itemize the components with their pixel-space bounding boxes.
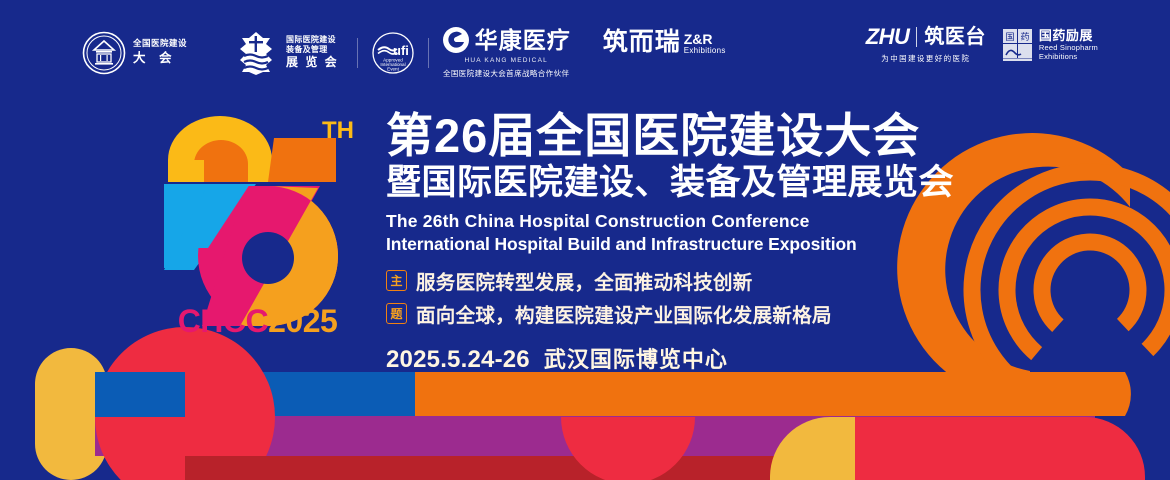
- theme-line1: 服务医院转型发展，全面推动科技创新: [416, 266, 753, 295]
- date-venue-line: 2025.5.24-26 武汉国际博览中心: [386, 342, 954, 374]
- huakang-partner-note: 全国医院建设大会首席战略合作伙伴: [443, 68, 569, 79]
- theme-row-2: 题 面向全球，构建医院建设产业国际化发展新格局: [386, 299, 954, 328]
- theme-line2: 面向全球，构建医院建设产业国际化发展新格局: [416, 299, 832, 328]
- event-venue: 武汉国际博览中心: [544, 342, 728, 374]
- reed-sinopharm-seal-icon: 国 药: [1003, 29, 1033, 61]
- svg-text:Event: Event: [387, 66, 399, 71]
- huakang-swirl-icon: [442, 26, 470, 54]
- chcc-seal-logo: 全国医院建设 大 会: [82, 31, 187, 75]
- ufi-logo: ufi Approved International Event: [371, 31, 415, 75]
- subtitle-en-line2: International Hospital Build and Infrast…: [386, 233, 954, 255]
- theme-badge-char1: 主: [386, 270, 407, 291]
- svg-text:药: 药: [1020, 32, 1029, 43]
- zhuyitai-cn-name: 筑医台: [924, 27, 986, 47]
- reed-en-line2: Exhibitions: [1039, 53, 1098, 62]
- chcc-wordmark: CHCC2025: [155, 303, 360, 340]
- logo-divider-2: [357, 38, 358, 68]
- partner-logos-right: ZHU 筑医台 为中国建设更好的医院 国 药: [866, 26, 1098, 64]
- zhuyitai-divider: [916, 27, 917, 47]
- event-date: 2025.5.24-26: [386, 346, 530, 374]
- zhuerrui-en-abbrev: Z&R: [684, 32, 726, 47]
- theme-block: 主 服务医院转型发展，全面推动科技创新 题 面向全球，构建医院建设产业国际化发展…: [386, 266, 954, 328]
- theme-badge-char2: 题: [386, 303, 407, 324]
- chcc-seal-line2: 大 会: [133, 51, 187, 65]
- zhuyitai-en-name: ZHU: [866, 26, 910, 48]
- chcc-2025-event-banner: 全国医院建设 大 会 国际医院建设 装备及管理 展 览: [0, 0, 1170, 480]
- zhuyitai-tagline: 为中国建设更好的医院: [881, 53, 970, 64]
- huakang-cn-name: 华康医疗: [475, 29, 571, 52]
- logo-divider-3: [428, 38, 429, 68]
- chcc-wordmark-year: 2025: [268, 303, 337, 339]
- exhibition-snowflake-logo: 国际医院建设 装备及管理 展 览 会: [232, 30, 339, 76]
- chcc-wordmark-primary: CHCC: [178, 303, 268, 339]
- subtitle-en-line1: The 26th China Hospital Construction Con…: [386, 210, 954, 232]
- chcc-arch-seal-icon: [82, 31, 126, 75]
- main-text-block: 第26届全国医院建设大会 暨国际医院建设、装备及管理展览会 The 26th C…: [386, 112, 954, 374]
- huakang-medical-logo: 华康医疗 HUA KANG MEDICAL 全国医院建设大会首席战略合作伙伴: [442, 26, 571, 79]
- zhuerrui-en-name: Exhibitions: [684, 47, 726, 55]
- partner-logos-left: 全国医院建设 大 会 国际医院建设 装备及管理 展 览: [82, 26, 726, 79]
- huakang-en-name: HUA KANG MEDICAL: [464, 57, 548, 64]
- title-cn-line1: 第26届全国医院建设大会: [386, 112, 954, 160]
- ordinal-suffix-th: TH: [322, 117, 354, 144]
- subtitle-en: The 26th China Hospital Construction Con…: [386, 210, 954, 255]
- snowflake-building-icon: [232, 30, 280, 76]
- reed-sinopharm-logo: 国 药 国药励展 Reed Sinopharm Exhibitions: [1003, 28, 1098, 62]
- snowflake-line3: 展 览 会: [286, 55, 339, 69]
- partner-logo-bar: 全国医院建设 大 会 国际医院建设 装备及管理 展 览: [0, 0, 1170, 94]
- zhuerrui-logo: 筑而瑞 Z&R Exhibitions: [603, 30, 726, 55]
- theme-row-1: 主 服务医院转型发展，全面推动科技创新: [386, 266, 954, 295]
- snowflake-line1: 国际医院建设: [286, 35, 339, 45]
- title-cn-line2: 暨国际医院建设、装备及管理展览会: [386, 163, 954, 202]
- reed-cn-name: 国药励展: [1039, 28, 1098, 43]
- zhuyitai-logo: ZHU 筑医台 为中国建设更好的医院: [866, 26, 986, 64]
- zhuerrui-cn-name: 筑而瑞: [603, 30, 681, 55]
- svg-text:ufi: ufi: [393, 43, 409, 58]
- chcc-seal-line1: 全国医院建设: [133, 39, 187, 49]
- ufi-approved-event-icon: ufi Approved International Event: [371, 31, 415, 75]
- snowflake-line2: 装备及管理: [286, 45, 339, 55]
- svg-text:国: 国: [1005, 32, 1014, 43]
